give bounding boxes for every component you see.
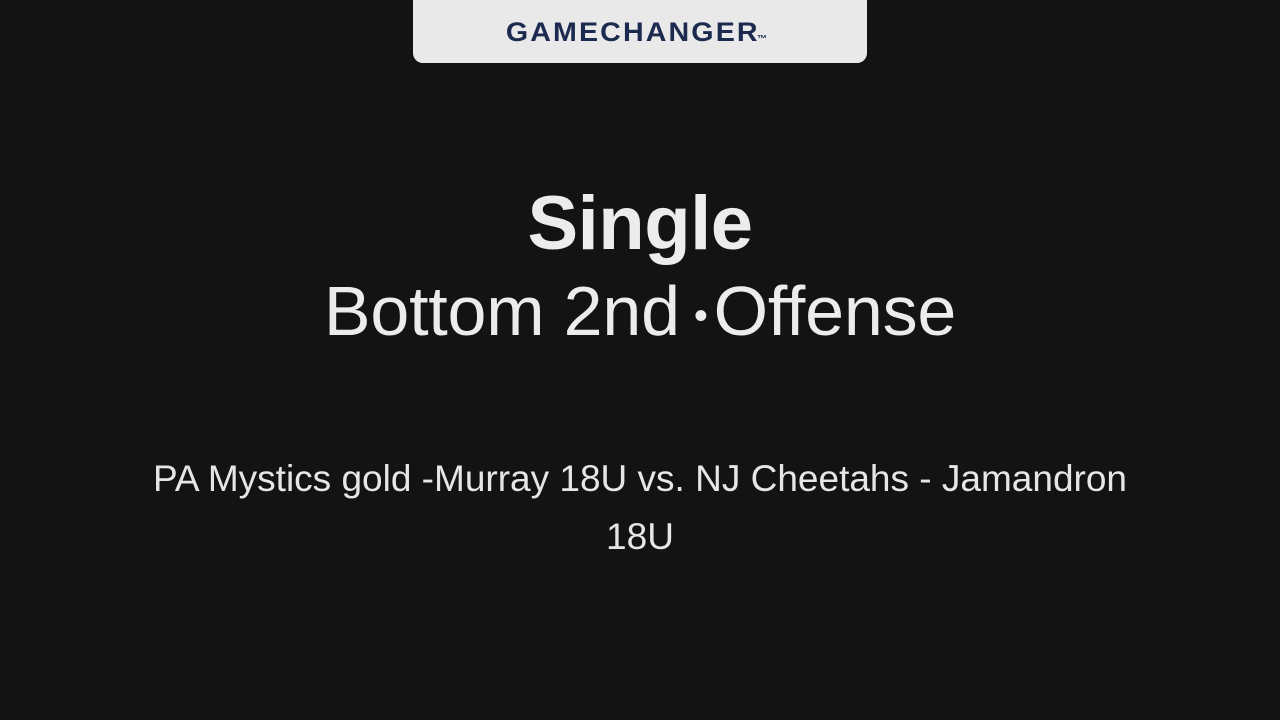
separator-dot-icon: • — [694, 296, 708, 336]
side-label: Offense — [714, 272, 956, 350]
play-context-line: Bottom 2nd•Offense — [0, 268, 1280, 354]
play-card-content: Single Bottom 2nd•Offense PA Mystics gol… — [0, 0, 1280, 720]
broadcast-stage: GAMECHANGER ™ Single Bottom 2nd•Offense … — [0, 0, 1280, 720]
matchup-label: PA Mystics gold -Murray 18U vs. NJ Cheet… — [135, 450, 1145, 566]
play-result-title: Single — [0, 180, 1280, 268]
play-headline-group: Single Bottom 2nd•Offense — [0, 180, 1280, 354]
matchup-block: PA Mystics gold -Murray 18U vs. NJ Cheet… — [135, 450, 1145, 566]
inning-label: Bottom 2nd — [324, 272, 680, 350]
